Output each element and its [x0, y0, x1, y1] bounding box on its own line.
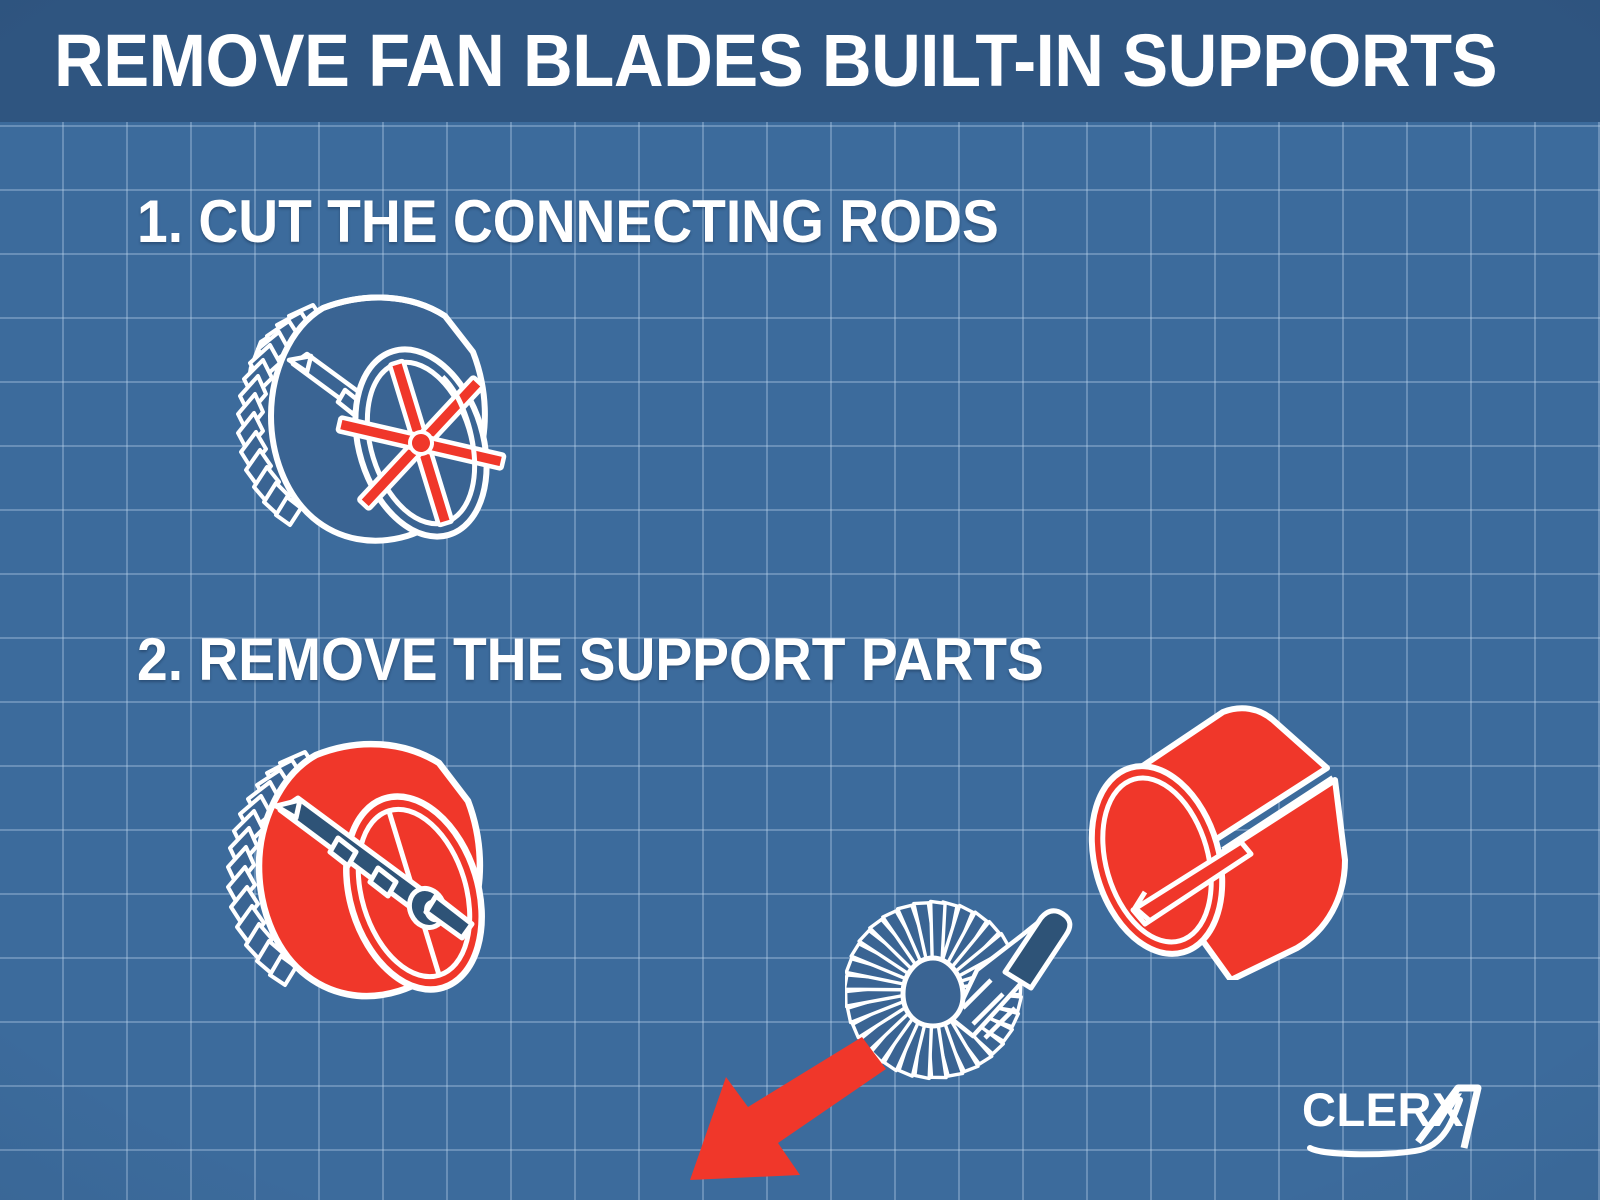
- step-1-label: 1. CUT THE CONNECTING RODS: [137, 192, 999, 252]
- header-bar: REMOVE FAN BLADES BUILT-IN SUPPORTS: [0, 0, 1600, 122]
- page-title: REMOVE FAN BLADES BUILT-IN SUPPORTS: [54, 24, 1497, 98]
- step-2-label: 2. REMOVE THE SUPPORT PARTS: [137, 630, 1044, 690]
- step-2-shroud-illustration: [200, 710, 550, 1020]
- removal-direction-arrow: [660, 1015, 890, 1195]
- arrow-svg: [660, 1015, 890, 1195]
- red-shroud-svg: [200, 710, 550, 1020]
- fan-shroud-with-rods-svg: [215, 268, 555, 568]
- removed-support-illustration: [1045, 680, 1355, 980]
- infographic-canvas: REMOVE FAN BLADES BUILT-IN SUPPORTS 1. C…: [0, 0, 1600, 1200]
- impeller-hub: [903, 958, 963, 1026]
- clerx-logo: CLERX: [1300, 1070, 1500, 1160]
- step-1-illustration: [215, 268, 555, 568]
- red-support-ring-svg: [1045, 680, 1355, 980]
- clerx-logo-svg: CLERX: [1300, 1070, 1500, 1160]
